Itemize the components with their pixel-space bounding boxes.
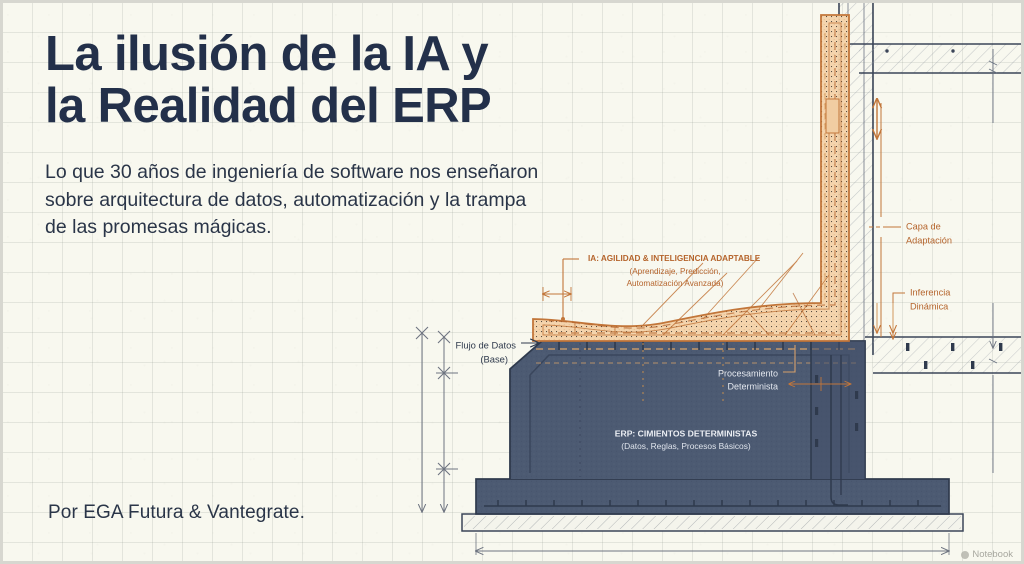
ground-strip bbox=[462, 514, 963, 531]
label-inferencia-line-1: Inferencia bbox=[910, 287, 951, 297]
label-flujo-line-1: Flujo de Datos bbox=[456, 339, 517, 350]
leader-ai-layer bbox=[561, 259, 579, 321]
dimension-line-bottom bbox=[476, 533, 949, 555]
dimension-lines-left bbox=[416, 327, 458, 512]
callout-ai-line-2: Automatización Avanzada) bbox=[627, 279, 724, 288]
page-subtitle: Lo que 30 años de ingeniería de software… bbox=[45, 159, 575, 242]
label-capa-line-2: Adaptación bbox=[906, 235, 952, 245]
callout-erp-line-1: (Datos, Reglas, Procesos Básicos) bbox=[621, 441, 751, 451]
label-procesamiento-line-1: Procesamiento bbox=[718, 368, 778, 378]
watermark-label: Notebook bbox=[972, 549, 1013, 560]
callout-ai-title: IA: AGILIDAD & INTELIGENCIA ADAPTABLE bbox=[588, 254, 761, 263]
erp-footing-base bbox=[476, 479, 949, 514]
label-flujo-de-datos: Flujo de Datos (Base) bbox=[456, 339, 517, 364]
label-procesamiento-line-2: Determinista bbox=[727, 381, 778, 391]
leader-inferencia-dinamica bbox=[893, 293, 905, 339]
dimension-line-ai-width bbox=[543, 287, 571, 301]
byline-credit: Por EGA Futura & Vantegrate. bbox=[48, 502, 305, 524]
callout-ai-line-1: (Aprendizaje, Predicción, bbox=[629, 267, 720, 276]
label-inferencia-dinamica: Inferencia Dinámica bbox=[910, 287, 951, 311]
label-capa-line-1: Capa de bbox=[906, 221, 941, 231]
callout-erp-title: ERP: CIMIENTOS DETERMINISTAS bbox=[615, 428, 758, 438]
slide-canvas: IA: AGILIDAD & INTELIGENCIA ADAPTABLE (A… bbox=[0, 0, 1024, 564]
structural-beam-mid-hatch bbox=[865, 303, 1024, 473]
label-inferencia-line-2: Dinámica bbox=[910, 301, 949, 311]
label-flujo-line-2: (Base) bbox=[480, 353, 508, 364]
title-block: La ilusión de la IA y la Realidad del ER… bbox=[45, 29, 605, 242]
notebook-logo-icon bbox=[961, 551, 969, 559]
page-title: La ilusión de la IA y la Realidad del ER… bbox=[45, 29, 605, 133]
watermark: Notebook bbox=[961, 549, 1013, 560]
load-arrows bbox=[877, 303, 893, 333]
label-capa-de-adaptacion: Capa de Adaptación bbox=[906, 221, 952, 245]
